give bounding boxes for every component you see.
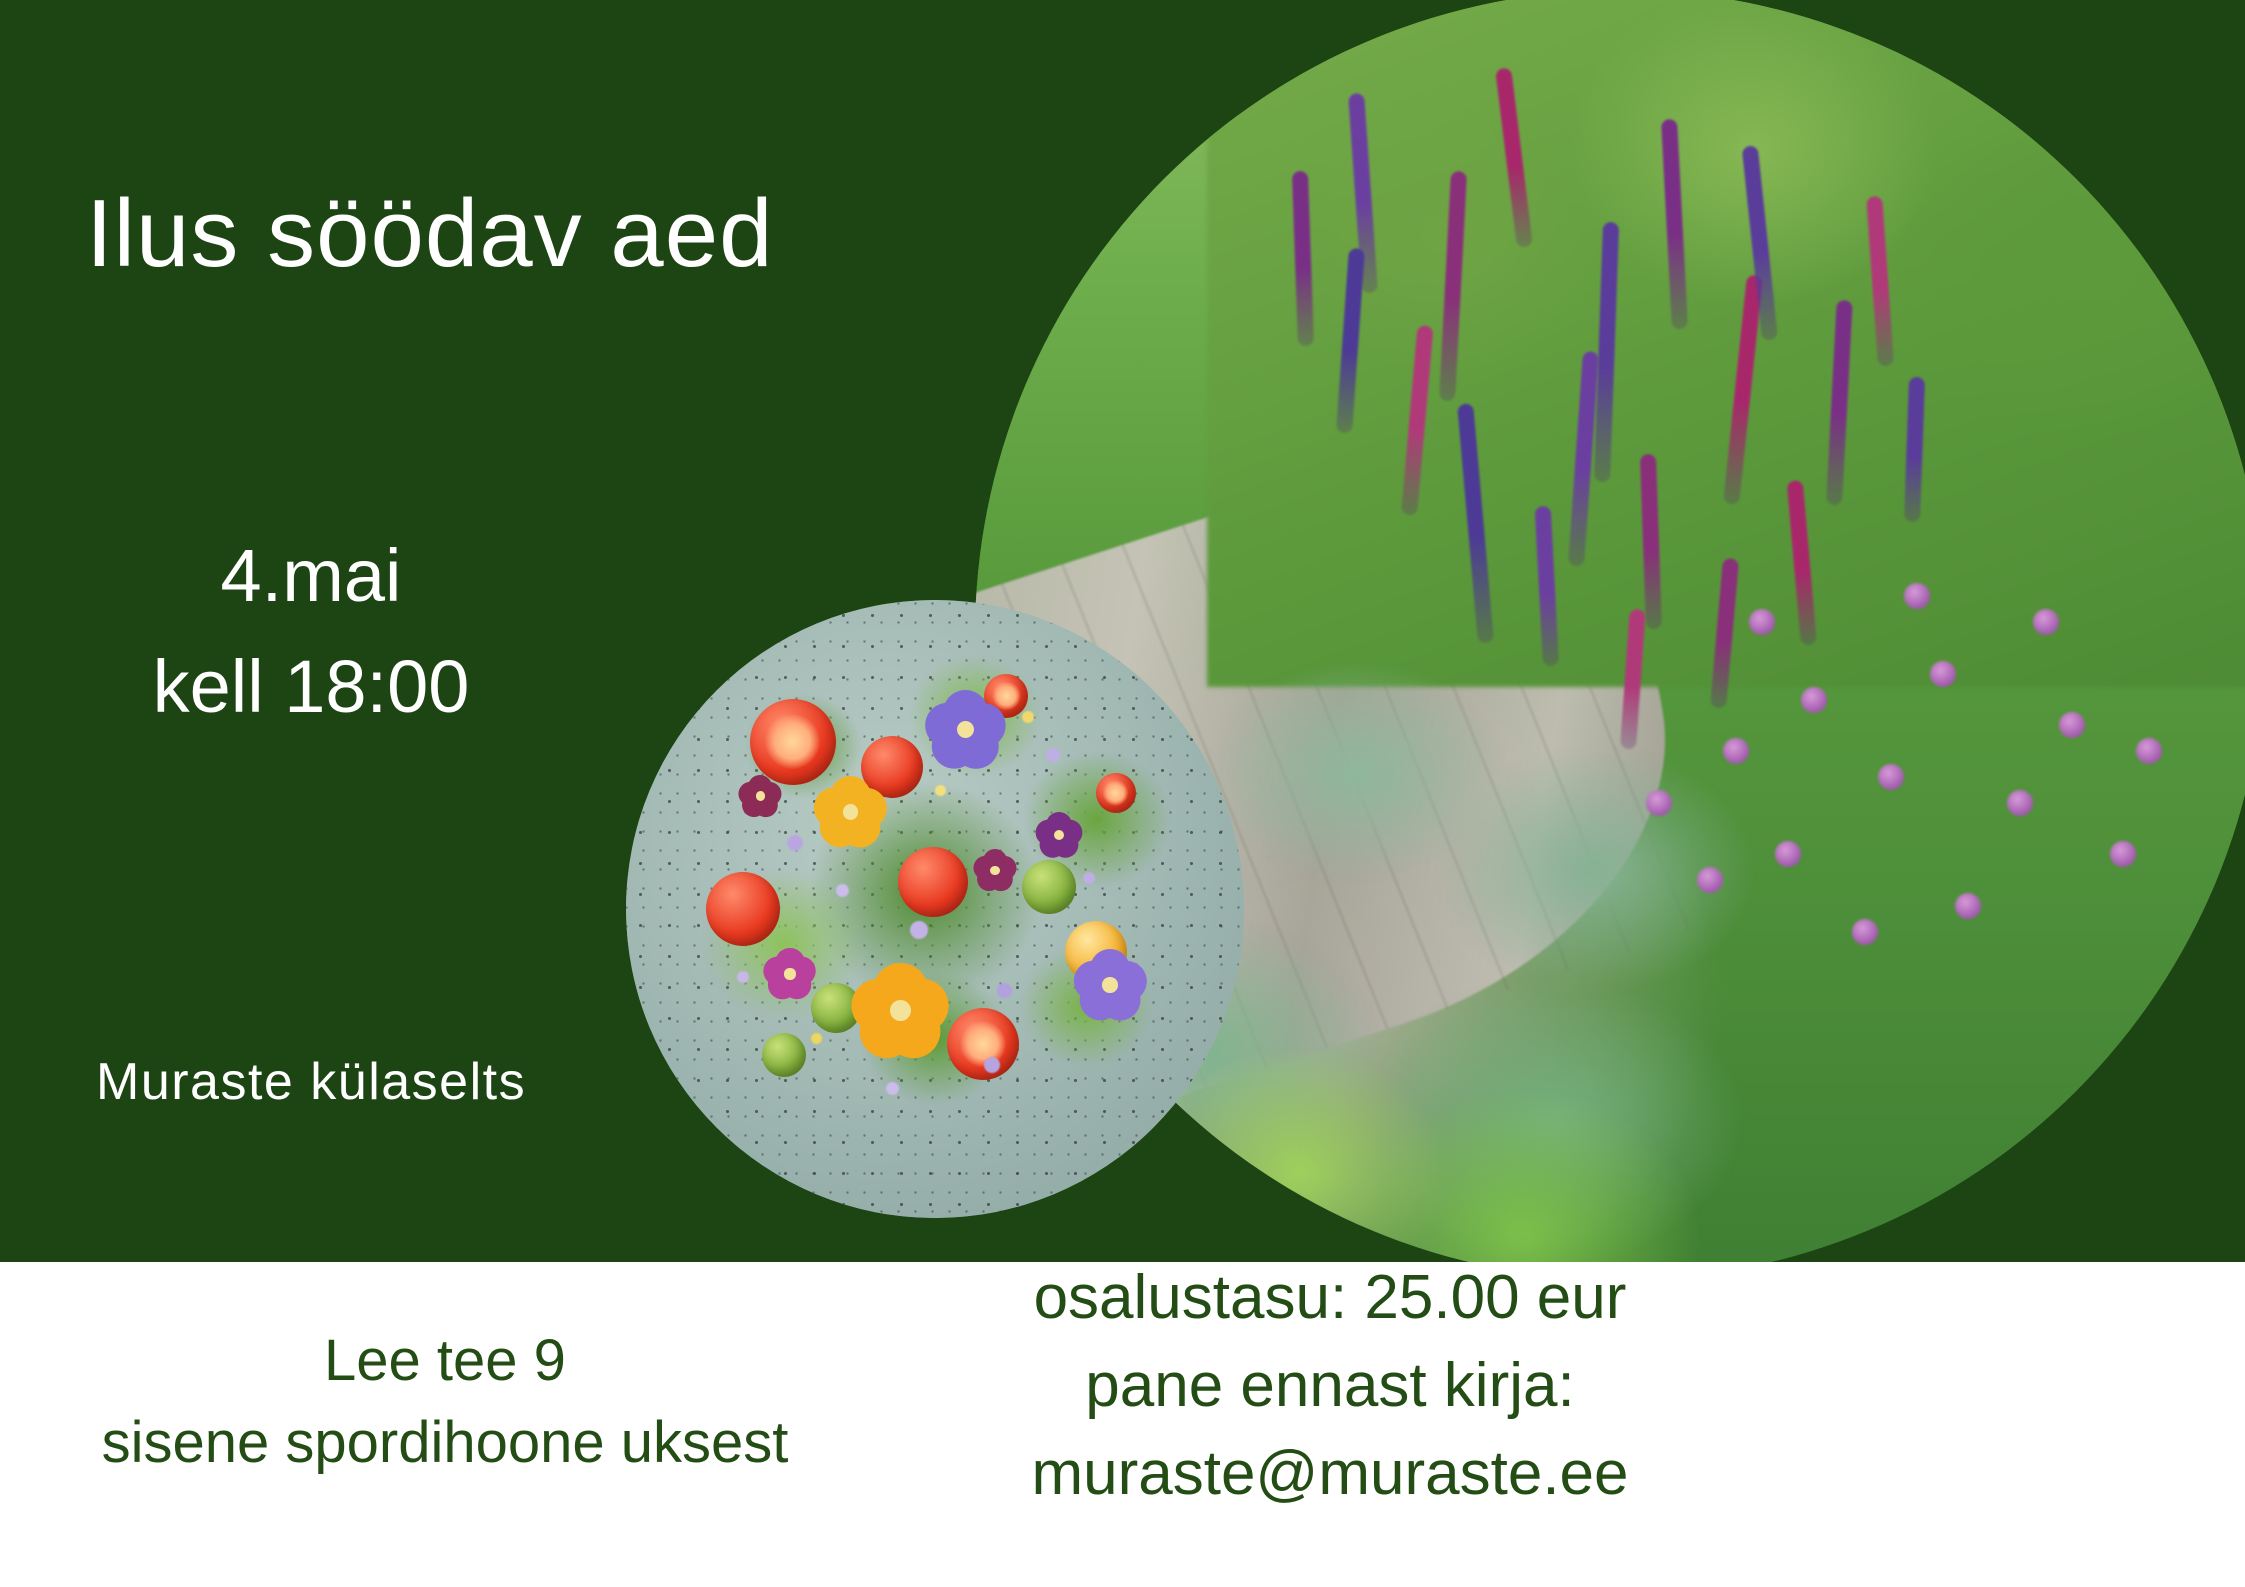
salad-photo-circle — [626, 600, 1244, 1218]
chive-blossom — [2033, 609, 2059, 635]
chive-blossom — [1749, 609, 1775, 635]
green-background-panel: Ilus söödav aed 4.mai kell 18:00 Muraste… — [0, 0, 2245, 1262]
chive-blossom — [2136, 738, 2162, 764]
register-prompt: pane ennast kirja: — [930, 1342, 1730, 1430]
salad-tomato — [898, 847, 968, 917]
edible-pansy-flower — [923, 687, 1009, 773]
chive-blossom — [1852, 919, 1878, 945]
flower-center — [990, 866, 999, 875]
edible-pansy-flower — [1034, 810, 1084, 860]
registration-block: osalustasu: 25.00 eur pane ennast kirja:… — [930, 1254, 1730, 1518]
flower-center — [1102, 977, 1118, 993]
flower-center — [756, 791, 765, 800]
chive-blossom — [1801, 687, 1827, 713]
venue-entrance-note: sisene spordihoone uksest — [30, 1402, 860, 1484]
salad-blossom-bit — [737, 971, 749, 983]
salad-blossom-bit — [886, 1082, 899, 1095]
salad-tomato — [1096, 773, 1136, 813]
footer-bar: Lee tee 9 sisene spordihoone uksest osal… — [0, 1262, 2245, 1587]
edible-pansy-flower — [1071, 946, 1149, 1024]
salad-blossom-bit — [1022, 711, 1034, 723]
edible-pansy-flower — [762, 946, 818, 1002]
flower-center — [890, 1000, 911, 1021]
flower-center — [843, 804, 859, 820]
event-datetime: 4.mai kell 18:00 — [96, 520, 526, 742]
chive-blossom — [1878, 764, 1904, 790]
salad-tomato — [762, 1033, 806, 1077]
contact-email[interactable]: muraste@muraste.ee — [930, 1430, 1730, 1518]
event-date: 4.mai — [96, 520, 526, 631]
salad-tomato — [1022, 860, 1076, 914]
salad-blossom-bit — [811, 1033, 822, 1044]
salad-tomato — [706, 872, 780, 946]
salad-tomato — [947, 1008, 1019, 1080]
participation-fee: osalustasu: 25.00 eur — [930, 1254, 1730, 1342]
edible-pansy-flower — [811, 773, 889, 851]
salad-blossom-bit — [997, 983, 1012, 998]
flower-center — [1054, 830, 1064, 840]
edible-pansy-flower — [848, 958, 952, 1062]
chive-blossom — [1646, 790, 1672, 816]
organizer-name: Muraste külaselts — [96, 1052, 526, 1112]
chive-blossom — [2059, 712, 2085, 738]
edible-pansy-flower — [972, 847, 1018, 893]
poster-canvas: Ilus söödav aed 4.mai kell 18:00 Muraste… — [0, 0, 2245, 1587]
event-time: kell 18:00 — [96, 631, 526, 742]
venue-block: Lee tee 9 sisene spordihoone uksest — [30, 1320, 860, 1485]
salad-blossom-bit — [787, 835, 803, 851]
chive-blossom — [1930, 661, 1956, 687]
page-title: Ilus söödav aed — [86, 186, 773, 282]
flower-center — [784, 968, 795, 979]
chive-blossom — [1904, 583, 1930, 609]
chive-blossom — [1775, 841, 1801, 867]
salad-tomato — [750, 699, 836, 785]
chive-blossom — [2007, 790, 2033, 816]
venue-address: Lee tee 9 — [30, 1320, 860, 1402]
edible-pansy-flower — [737, 773, 783, 819]
